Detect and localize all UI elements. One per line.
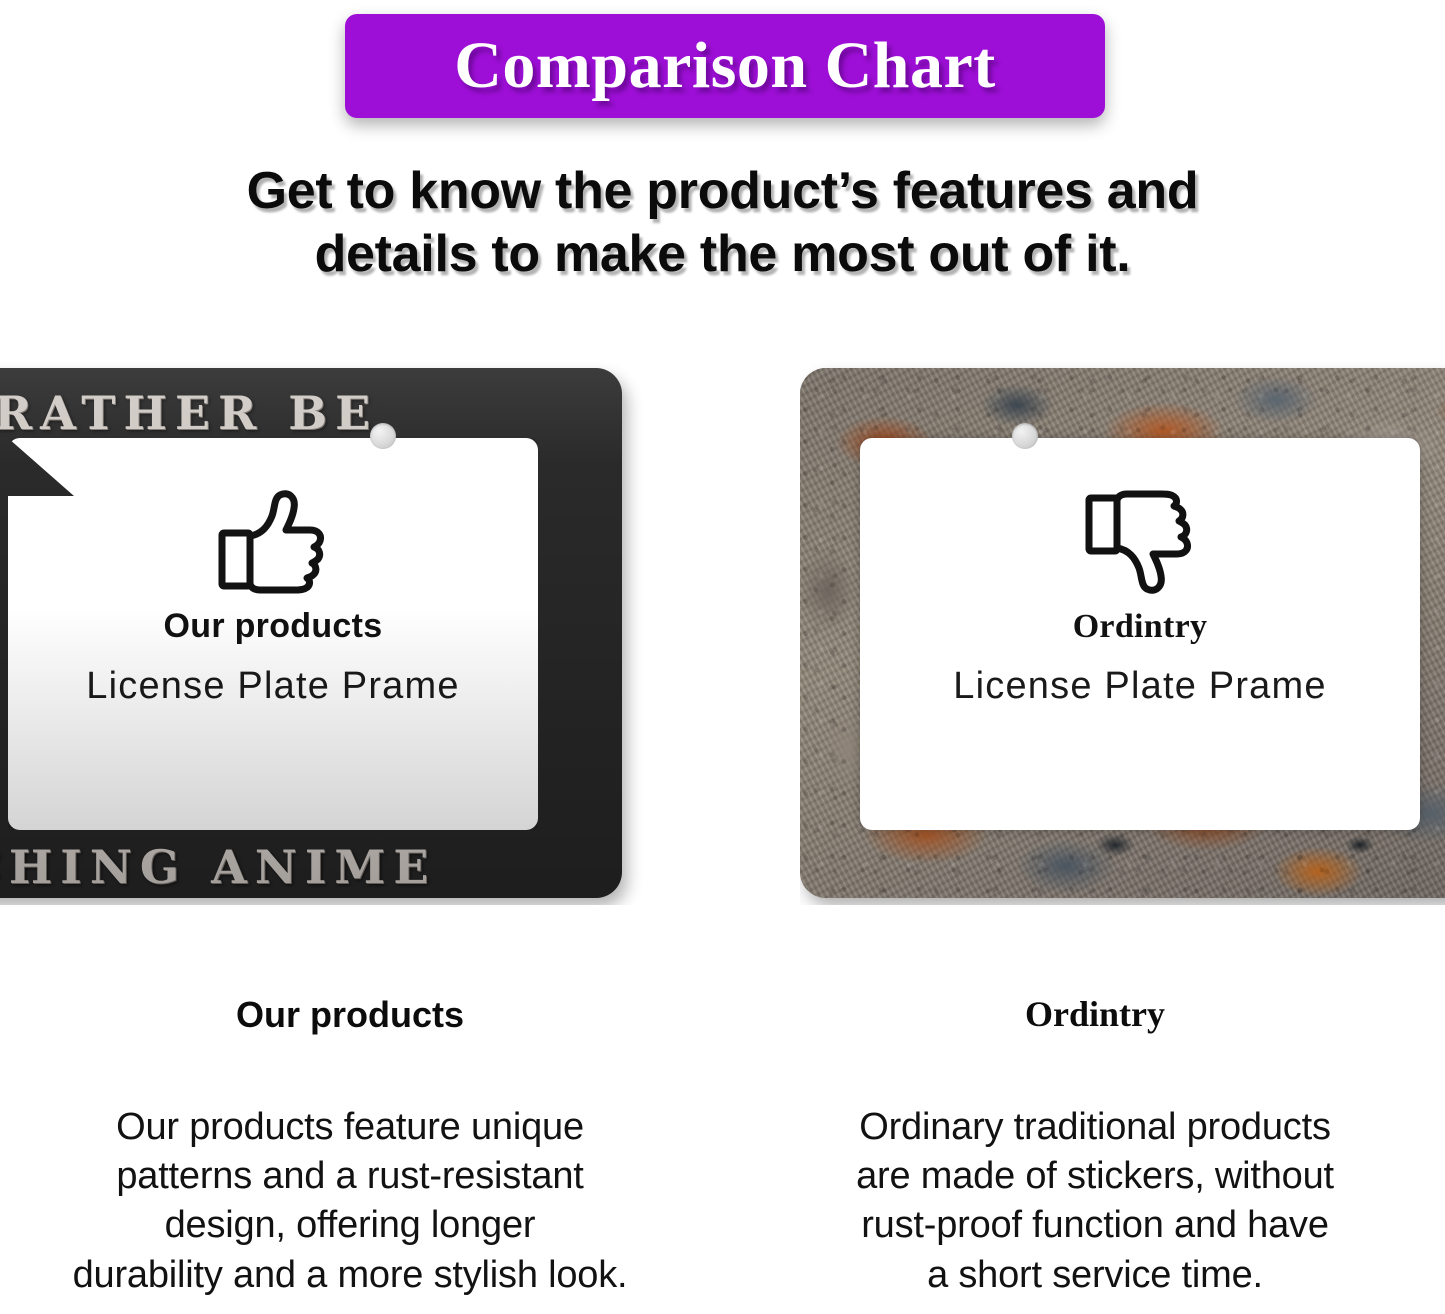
description-line: rust-proof function and have (745, 1201, 1445, 1250)
our-product-label: License Plate Prame (8, 667, 538, 707)
description-line: patterns and a rust-resistant (0, 1152, 700, 1201)
right-window-content: Ordintry License Plate Prame (860, 486, 1420, 707)
page-title: Comparison Chart (454, 33, 996, 99)
ordinary-product-label: License Plate Prame (860, 667, 1420, 707)
description-line: a short service time. (745, 1251, 1445, 1300)
black-license-plate-frame: D RATHER BE TCHING ANIME Our products Li… (0, 368, 622, 898)
rusted-license-plate-frame: Ordintry License Plate Prame (800, 368, 1445, 898)
our-product-heading: Our products (0, 995, 700, 1035)
description-line: Ordinary traditional products (745, 1103, 1445, 1152)
subtitle-line-1: Get to know the product’s features and (0, 160, 1445, 223)
description-line: Our products feature unique (0, 1103, 700, 1152)
subtitle: Get to know the product’s features and d… (0, 160, 1445, 287)
frame-bottom-band-text: TCHING ANIME (0, 840, 622, 894)
plate-corner-notch-left (8, 438, 74, 496)
our-product-image: D RATHER BE TCHING ANIME Our products Li… (0, 360, 684, 905)
ordinary-product-heading: Ordintry (745, 995, 1445, 1035)
mounting-hole-right (1012, 423, 1038, 449)
ordinary-product-image: Ordintry License Plate Prame (800, 360, 1445, 905)
description-line: durability and a more stylish look. (0, 1251, 700, 1300)
description-line: design, offering longer (0, 1201, 700, 1250)
subtitle-line-2: details to make the most out of it. (0, 223, 1445, 286)
our-product-description: Our products feature unique patterns and… (0, 1103, 700, 1301)
comparison-chart-banner: Comparison Chart (345, 14, 1105, 118)
plate-corner-notch-right (860, 438, 926, 496)
description-line: are made of stickers, without (745, 1152, 1445, 1201)
frame-top-band-text: D RATHER BE (0, 386, 622, 440)
ordinary-product-description-column: Ordintry Ordinary traditional products a… (745, 995, 1445, 1300)
thumbs-up-icon (214, 486, 332, 598)
our-brand-name: Our products (8, 608, 538, 645)
mounting-hole-left (370, 423, 396, 449)
plate-window-left: Our products License Plate Prame (8, 438, 538, 830)
ordinary-brand-name: Ordintry (860, 608, 1420, 645)
our-product-description-column: Our products Our products feature unique… (0, 995, 700, 1300)
left-window-content: Our products License Plate Prame (8, 486, 538, 707)
plate-window-right: Ordintry License Plate Prame (860, 438, 1420, 830)
thumbs-down-icon (1081, 486, 1199, 598)
ordinary-product-description: Ordinary traditional products are made o… (745, 1103, 1445, 1301)
